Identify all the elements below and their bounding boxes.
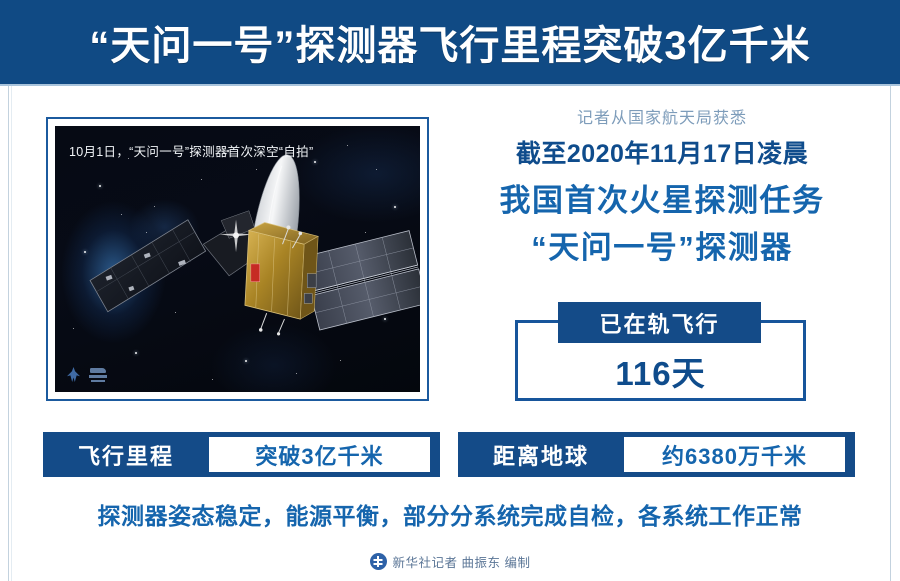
photo-watermark	[67, 367, 107, 382]
as-of-date: 截至2020年11月17日凌晨	[448, 134, 876, 170]
stat-value: 突破3亿千米	[255, 439, 383, 471]
header-underline	[0, 84, 900, 86]
stat-value: 约6380万千米	[662, 439, 807, 471]
source-attribution: 记者从国家航天局获悉	[448, 104, 876, 128]
watermark-text-mark	[89, 368, 107, 382]
orbit-days-label: 已在轨飞行	[558, 302, 761, 343]
orbit-days-value: 116天	[515, 347, 806, 395]
photo-panel: 10月1日，“天问一号”探测器首次深空“自拍”	[46, 117, 429, 401]
mission-name-line: 我国首次火星探测任务	[448, 175, 876, 220]
infographic-poster: “天问一号”探测器飞行里程突破3亿千米	[0, 0, 900, 581]
spacecraft-photo: 10月1日，“天问一号”探测器首次深空“自拍”	[55, 126, 420, 392]
spacecraft-illustration	[55, 126, 420, 392]
header-banner: “天问一号”探测器飞行里程突破3亿千米	[0, 0, 900, 84]
stat-label: 飞行里程	[43, 439, 209, 471]
stat-value-box: 约6380万千米	[624, 437, 845, 472]
summary-text-block: 记者从国家航天局获悉 截至2020年11月17日凌晨 我国首次火星探测任务 “天…	[448, 104, 876, 267]
page-title: “天问一号”探测器飞行里程突破3亿千米	[0, 0, 900, 84]
probe-name-line: “天问一号”探测器	[448, 222, 876, 267]
rocket-emblem-icon	[67, 367, 80, 382]
stat-bar-distance-from-earth: 距离地球 约6380万千米	[458, 432, 855, 477]
stat-value-box: 突破3亿千米	[209, 437, 430, 472]
xinhua-logo-icon	[370, 553, 387, 570]
stat-label: 距离地球	[458, 439, 624, 471]
photo-caption: 10月1日，“天问一号”探测器首次深空“自拍”	[69, 141, 313, 160]
stat-bar-distance-traveled: 飞行里程 突破3亿千米	[43, 432, 440, 477]
credit-block: 新华社记者 曲振东 编制	[0, 552, 900, 571]
credit-text: 新华社记者 曲振东 编制	[393, 552, 531, 571]
status-summary-line: 探测器姿态稳定，能源平衡，部分分系统完成自检，各系统工作正常	[0, 497, 900, 531]
